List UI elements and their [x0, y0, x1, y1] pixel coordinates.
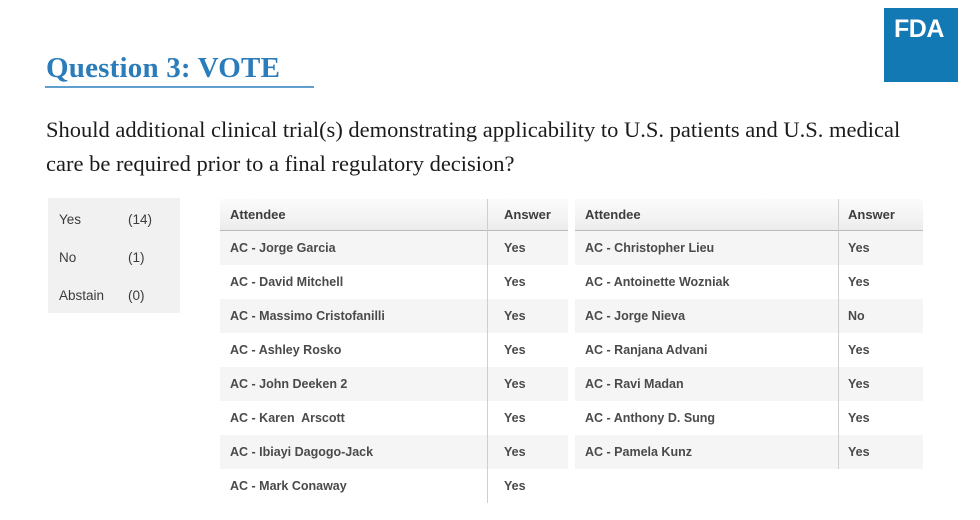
cell-answer: Yes — [848, 275, 870, 289]
vote-table-left: Attendee Answer AC - Jorge GarciaYesAC -… — [220, 199, 568, 503]
table-header-row: Attendee Answer — [220, 199, 568, 231]
cell-answer: Yes — [504, 479, 526, 493]
table-row: AC - Karen ArscottYes — [220, 401, 568, 435]
table-row: AC - David MitchellYes — [220, 265, 568, 299]
cell-attendee: AC - Antoinette Wozniak — [585, 275, 729, 289]
table-row: AC - Jorge NievaNo — [575, 299, 923, 333]
vote-tally-label: Abstain — [59, 288, 104, 303]
table-row: AC - Christopher LieuYes — [575, 231, 923, 265]
cell-attendee: AC - Massimo Cristofanilli — [230, 309, 385, 323]
cell-attendee: AC - John Deeken 2 — [230, 377, 347, 391]
cell-answer: Yes — [848, 377, 870, 391]
cell-answer: Yes — [504, 343, 526, 357]
cell-attendee: AC - Anthony D. Sung — [585, 411, 715, 425]
column-header-answer: Answer — [504, 207, 551, 222]
vote-tally-count: (14) — [128, 212, 152, 227]
table-row: AC - Ranjana AdvaniYes — [575, 333, 923, 367]
cell-answer: Yes — [848, 411, 870, 425]
column-header-attendee: Attendee — [585, 207, 641, 222]
cell-attendee: AC - Jorge Garcia — [230, 241, 336, 255]
fda-logo-text: FDA — [894, 17, 944, 42]
cell-answer: Yes — [504, 241, 526, 255]
question-text: Should additional clinical trial(s) demo… — [46, 113, 936, 181]
cell-answer: Yes — [504, 377, 526, 391]
cell-attendee: AC - Karen Arscott — [230, 411, 345, 425]
column-header-attendee: Attendee — [230, 207, 286, 222]
cell-attendee: AC - Ravi Madan — [585, 377, 684, 391]
table-row: AC - Jorge GarciaYes — [220, 231, 568, 265]
fda-logo: FDA — [884, 8, 958, 82]
table-row: AC - Ravi MadanYes — [575, 367, 923, 401]
table-row: AC - Massimo CristofanilliYes — [220, 299, 568, 333]
vote-tally-row-no: No (1) — [48, 250, 180, 272]
vote-summary-box: Yes (14) No (1) Abstain (0) — [48, 198, 180, 313]
cell-attendee: AC - Ashley Rosko — [230, 343, 341, 357]
cell-attendee: AC - Pamela Kunz — [585, 445, 692, 459]
page-title-underline — [45, 86, 314, 88]
column-header-answer: Answer — [848, 207, 895, 222]
vote-tally-row-abstain: Abstain (0) — [48, 288, 180, 310]
cell-attendee: AC - Jorge Nieva — [585, 309, 685, 323]
table-header-row: Attendee Answer — [575, 199, 923, 231]
cell-answer: Yes — [848, 343, 870, 357]
vote-tally-row-yes: Yes (14) — [48, 212, 180, 234]
table-row: AC - Ibiayi Dagogo-JackYes — [220, 435, 568, 469]
vote-tally-label: No — [59, 250, 76, 265]
cell-attendee: AC - Mark Conaway — [230, 479, 347, 493]
page-title: Question 3: VOTE — [46, 52, 280, 85]
cell-answer: Yes — [504, 445, 526, 459]
cell-attendee: AC - Ranjana Advani — [585, 343, 707, 357]
table-body: AC - Jorge GarciaYesAC - David MitchellY… — [220, 231, 568, 503]
column-divider — [487, 199, 488, 503]
cell-attendee: AC - Christopher Lieu — [585, 241, 714, 255]
cell-answer: Yes — [504, 275, 526, 289]
table-row: AC - Ashley RoskoYes — [220, 333, 568, 367]
cell-attendee: AC - David Mitchell — [230, 275, 343, 289]
cell-attendee: AC - Ibiayi Dagogo-Jack — [230, 445, 373, 459]
cell-answer: Yes — [504, 411, 526, 425]
column-divider — [838, 199, 839, 469]
vote-tally-count: (0) — [128, 288, 145, 303]
table-row: AC - Anthony D. SungYes — [575, 401, 923, 435]
table-row: AC - Mark ConawayYes — [220, 469, 568, 503]
table-row: AC - John Deeken 2Yes — [220, 367, 568, 401]
vote-tally-count: (1) — [128, 250, 145, 265]
table-body: AC - Christopher LieuYesAC - Antoinette … — [575, 231, 923, 469]
vote-table-right: Attendee Answer AC - Christopher LieuYes… — [575, 199, 923, 469]
table-row: AC - Pamela KunzYes — [575, 435, 923, 469]
cell-answer: Yes — [848, 241, 870, 255]
cell-answer: Yes — [848, 445, 870, 459]
table-row: AC - Antoinette WozniakYes — [575, 265, 923, 299]
cell-answer: No — [848, 309, 865, 323]
vote-tally-label: Yes — [59, 212, 81, 227]
cell-answer: Yes — [504, 309, 526, 323]
